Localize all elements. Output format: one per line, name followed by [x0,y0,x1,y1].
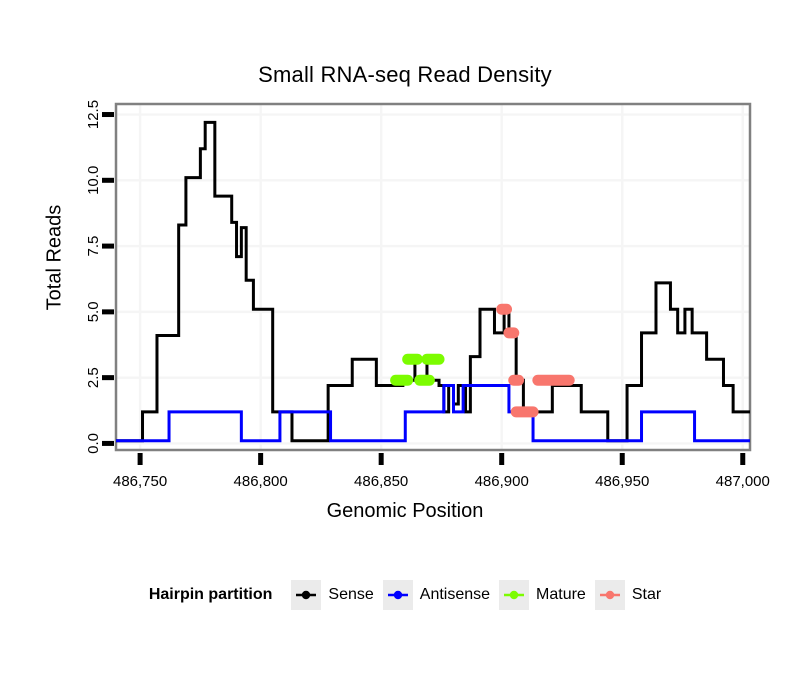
svg-text:5.0: 5.0 [85,301,102,322]
svg-text:0.0: 0.0 [85,433,102,454]
svg-text:10.0: 10.0 [85,166,102,195]
legend-label-antisense: Antisense [420,586,490,604]
chart-legend: Hairpin partition Sense Antisense [0,580,810,610]
svg-text:486,750: 486,750 [113,473,167,490]
svg-text:486,950: 486,950 [595,473,649,490]
legend-label-star: Star [632,586,661,604]
legend-key-antisense [383,580,413,610]
page-title: Small RNA-seq Read Density [0,62,810,88]
legend-title: Hairpin partition [149,586,273,604]
legend-item-mature[interactable]: Mature [499,580,586,610]
legend-item-sense[interactable]: Sense [291,580,373,610]
svg-text:2.5: 2.5 [85,367,102,388]
legend-key-mature [499,580,529,610]
x-axis-label: Genomic Position [0,500,810,523]
line-point-icon [385,582,411,608]
svg-text:12.5: 12.5 [85,100,102,129]
svg-text:7.5: 7.5 [85,236,102,257]
chart-figure: 0.02.55.07.510.012.5486,750486,800486,85… [0,0,810,690]
line-point-icon [501,582,527,608]
svg-text:486,800: 486,800 [234,473,288,490]
legend-key-star [595,580,625,610]
line-point-icon [597,582,623,608]
legend-item-antisense[interactable]: Antisense [383,580,490,610]
grid-lines [116,104,750,450]
legend-item-star[interactable]: Star [595,580,661,610]
legend-label-sense: Sense [328,586,373,604]
svg-text:486,850: 486,850 [354,473,408,490]
y-axis-label: Total Reads [44,108,67,408]
legend-key-sense [291,580,321,610]
legend-label-mature: Mature [536,586,586,604]
svg-text:486,900: 486,900 [475,473,529,490]
svg-text:487,000: 487,000 [716,473,770,490]
line-point-icon [293,582,319,608]
